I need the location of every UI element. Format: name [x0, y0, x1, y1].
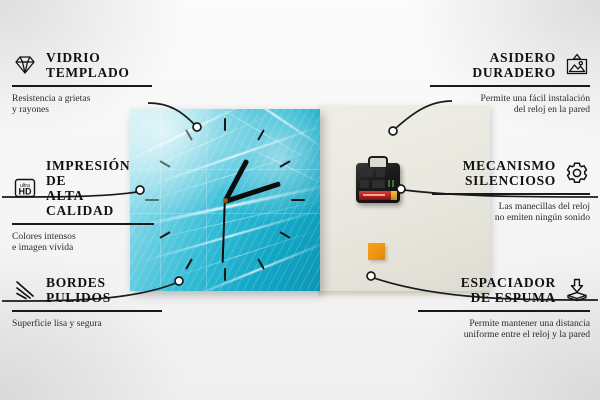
diamond-icon	[12, 52, 38, 78]
clock-mechanism	[356, 163, 400, 203]
feature-subtitle-line1: Colores intensos	[12, 231, 76, 242]
feature-title-line1: ESPACIADOR	[461, 275, 556, 290]
mechanism-detail	[388, 180, 396, 187]
divider	[432, 193, 590, 195]
feature-subtitle-line1: Superficie lisa y segura	[12, 318, 102, 329]
hour-tick	[291, 199, 305, 201]
feature-vidrio-templado: VIDRIO TEMPLADO Resistencia a grietas y …	[12, 50, 152, 116]
divider	[430, 85, 590, 87]
mechanism-detail	[360, 168, 373, 177]
feature-subtitle-line1: Permite una fácil instalación	[481, 93, 591, 104]
feature-subtitle-line2: y rayones	[12, 104, 49, 115]
mechanism-detail	[376, 168, 385, 177]
feature-subtitle-line1: Resistencia a grietas	[12, 93, 90, 104]
feature-title-line1: BORDES	[46, 275, 106, 290]
feature-title-line2: DE ESPUMA	[471, 290, 556, 305]
foam-spacer	[368, 243, 385, 260]
divider	[12, 85, 152, 87]
hanger-tab-icon	[368, 156, 388, 167]
divider	[12, 223, 154, 225]
feature-title-line2: PULIDOS	[46, 290, 111, 305]
feature-subtitle-line2: e imagen vívida	[12, 242, 73, 253]
feature-title-line1: VIDRIO	[46, 50, 100, 65]
hour-tick	[224, 118, 226, 131]
feature-asidero-duradero: ASIDERO DURADERO Permite una fácil insta…	[430, 50, 590, 116]
feature-bordes-pulidos: BORDES PULIDOS Superficie lisa y segura	[12, 275, 162, 329]
divider	[418, 310, 590, 312]
feature-title-line1: MECANISMO	[463, 158, 556, 173]
feature-subtitle-line2: no emiten ningún sonido	[495, 212, 590, 223]
feature-title-line2: TEMPLADO	[46, 65, 130, 80]
feature-title-line1: IMPRESIÓN DE	[46, 158, 130, 188]
feature-title-line1: ASIDERO	[490, 50, 556, 65]
hands-center-cap	[223, 198, 228, 203]
feature-title-line2: SILENCIOSO	[465, 173, 556, 188]
feature-impresion-alta-calidad: ultra HD IMPRESIÓN DE ALTA CALIDAD Color…	[12, 158, 154, 254]
feature-subtitle-line1: Las manecillas del reloj	[499, 201, 590, 212]
feature-mecanismo-silencioso: MECANISMO SILENCIOSO Las manecillas del …	[432, 158, 590, 224]
feature-subtitle-line2: uniforme entre el reloj y la pared	[464, 329, 590, 340]
feature-title-line2: DURADERO	[472, 65, 556, 80]
mechanism-detail	[360, 180, 369, 188]
feature-title-line2: ALTA CALIDAD	[46, 188, 114, 218]
feature-subtitle-line2: del reloj en la pared	[514, 104, 590, 115]
glass-clock-face	[130, 109, 320, 291]
ultra-hd-icon: ultra HD	[12, 175, 38, 201]
infographic-canvas: VIDRIO TEMPLADO Resistencia a grietas y …	[0, 0, 600, 400]
hour-tick	[224, 268, 226, 281]
divider	[12, 310, 162, 312]
foam-spacer-icon	[564, 277, 590, 303]
feature-subtitle-line1: Permite mantener una distancia	[469, 318, 590, 329]
picture-hanger-icon	[564, 52, 590, 78]
ultra-hd-icon-bottom: HD	[19, 187, 32, 197]
battery	[359, 191, 397, 200]
mechanism-detail	[372, 180, 385, 188]
gear-icon	[564, 160, 590, 186]
feature-espaciador-de-espuma: ESPACIADOR DE ESPUMA Permite mantener un…	[418, 275, 590, 341]
polished-edges-icon	[12, 277, 38, 303]
